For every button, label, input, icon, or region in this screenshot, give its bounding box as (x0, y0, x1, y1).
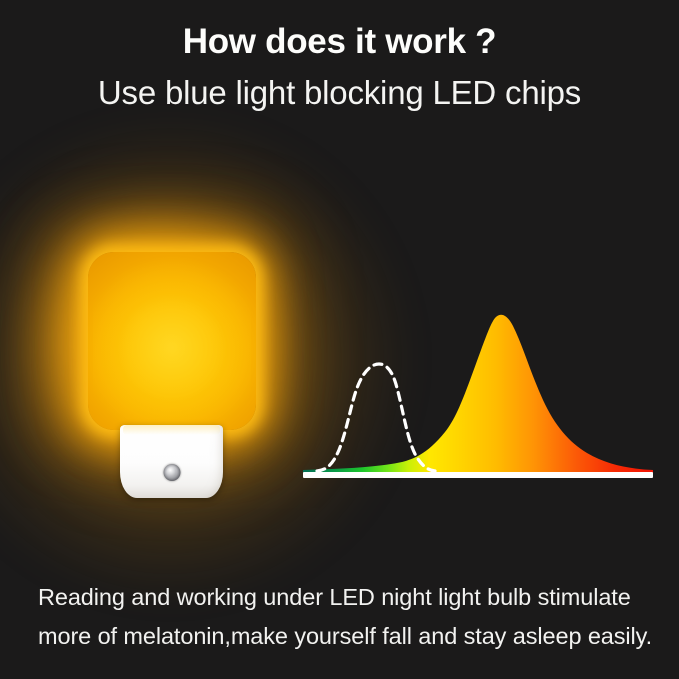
night-light-product (0, 140, 330, 560)
chart-axis-line (303, 472, 653, 478)
light-sensor-icon (163, 464, 180, 481)
product-infographic: How does it work ? Use blue light blocki… (0, 0, 679, 679)
lamp-shade (88, 252, 256, 430)
spectrum-chart (295, 282, 665, 497)
page-title: How does it work ? (0, 22, 679, 62)
caption-line-1: Reading and working under LED night ligh… (38, 578, 646, 617)
blue-light-dashed-curve (317, 364, 435, 471)
page-subtitle: Use blue light blocking LED chips (0, 74, 679, 112)
lamp-base (120, 425, 223, 498)
spectrum-chart-svg (295, 282, 665, 497)
caption-line-2: more of melatonin,make yourself fall and… (38, 617, 646, 656)
caption-text: Reading and working under LED night ligh… (38, 578, 646, 656)
